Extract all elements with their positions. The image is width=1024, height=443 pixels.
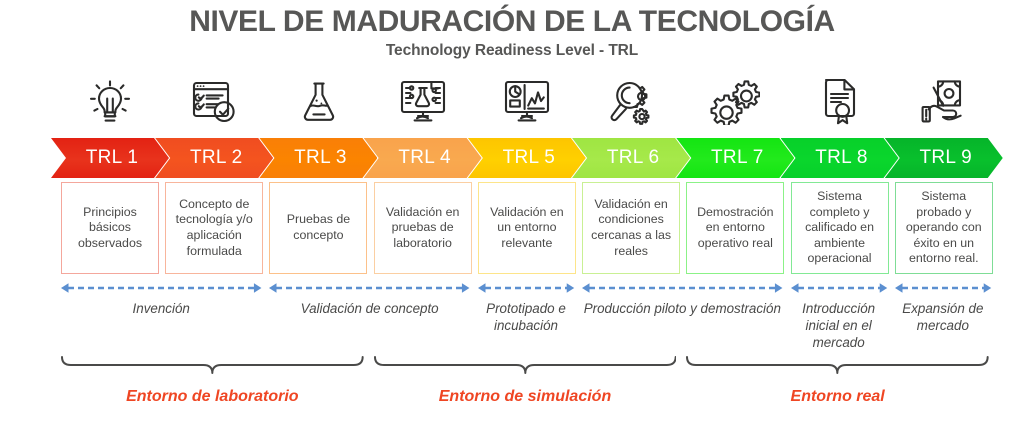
trl-chevron-label: TRL 3 bbox=[290, 147, 347, 169]
environment-row: Entorno de laboratorioEntorno de simulac… bbox=[58, 356, 996, 436]
environment-brace-3 bbox=[686, 356, 989, 382]
trl-description-text: Demostración en entorno operativo real bbox=[690, 205, 780, 252]
environment-label-3: Entorno real bbox=[686, 388, 989, 406]
trl-description-box-6: Validación en condiciones cercanas a las… bbox=[582, 182, 680, 274]
trl-chevron-6[interactable]: TRL 6 bbox=[572, 138, 690, 178]
trl-chevron-label: TRL 4 bbox=[394, 147, 451, 169]
phase-row: InvenciónValidación de conceptoPrototipa… bbox=[58, 281, 996, 355]
checklist-approved-icon bbox=[162, 72, 266, 130]
environment-label-1: Entorno de laboratorio bbox=[61, 388, 364, 406]
environment-brace-2 bbox=[374, 356, 677, 382]
trl-description-text: Sistema completo y calificado en ambient… bbox=[795, 189, 885, 267]
flask-icon bbox=[266, 72, 370, 130]
trl-description-text: Principios básicos observados bbox=[65, 205, 155, 252]
trl-chevron-label: TRL 1 bbox=[82, 147, 139, 169]
phase-arrow-2 bbox=[268, 281, 470, 293]
phase-label-6: Expansión de mercado bbox=[894, 301, 992, 335]
trl-description-text: Sistema probado y operando con éxito en … bbox=[899, 189, 989, 267]
phase-arrow-5 bbox=[790, 281, 888, 293]
trl-description-text: Validación en pruebas de laboratorio bbox=[378, 205, 468, 252]
trl-chevron-label: TRL 7 bbox=[707, 147, 764, 169]
trl-description-box-1: Principios básicos observados bbox=[61, 182, 159, 274]
trl-description-text: Validación en condiciones cercanas a las… bbox=[586, 197, 676, 260]
phase-label-2: Validación de concepto bbox=[268, 301, 470, 318]
trl-description-text: Validación en un entorno relevante bbox=[482, 205, 572, 252]
trl-description-box-8: Sistema completo y calificado en ambient… bbox=[791, 182, 889, 274]
trl-chevron-band: TRL 1TRL 2TRL 3TRL 4TRL 5TRL 6TRL 7TRL 8… bbox=[58, 138, 996, 178]
environment-label-2: Entorno de simulación bbox=[374, 388, 677, 406]
trl-description-box-3: Pruebas de concepto bbox=[269, 182, 367, 274]
trl-chevron-1[interactable]: TRL 1 bbox=[51, 138, 169, 178]
phase-arrow-3 bbox=[477, 281, 575, 293]
environment-brace-1 bbox=[61, 356, 364, 382]
trl-description-box-5: Validación en un entorno relevante bbox=[478, 182, 576, 274]
trl-chevron-label: TRL 5 bbox=[499, 147, 556, 169]
phase-arrow-6 bbox=[894, 281, 992, 293]
trl-description-text: Concepto de tecnología y/o aplicación fo… bbox=[169, 197, 259, 260]
lightbulb-icon bbox=[58, 72, 162, 130]
trl-chevron-label: TRL 6 bbox=[603, 147, 660, 169]
trl-description-box-9: Sistema probado y operando con éxito en … bbox=[895, 182, 993, 274]
trl-chevron-2[interactable]: TRL 2 bbox=[155, 138, 273, 178]
trl-description-box-2: Concepto de tecnología y/o aplicación fo… bbox=[165, 182, 263, 274]
trl-chevron-7[interactable]: TRL 7 bbox=[676, 138, 794, 178]
trl-chevron-4[interactable]: TRL 4 bbox=[364, 138, 482, 178]
phase-label-1: Invención bbox=[60, 301, 262, 318]
trl-chevron-label: TRL 8 bbox=[811, 147, 868, 169]
trl-description-box-4: Validación en pruebas de laboratorio bbox=[374, 182, 472, 274]
magnifier-gears-icon bbox=[579, 72, 683, 130]
monitor-analytics-icon bbox=[475, 72, 579, 130]
trl-chevron-9[interactable]: TRL 9 bbox=[885, 138, 1003, 178]
trl-chevron-label: TRL 9 bbox=[915, 147, 972, 169]
trl-chevron-label: TRL 2 bbox=[186, 147, 243, 169]
phase-arrow-4 bbox=[581, 281, 783, 293]
trl-description-box-7: Demostración en entorno operativo real bbox=[686, 182, 784, 274]
trl-diagram: TRL 1TRL 2TRL 3TRL 4TRL 5TRL 6TRL 7TRL 8… bbox=[58, 0, 996, 443]
trl-chevron-3[interactable]: TRL 3 bbox=[259, 138, 377, 178]
phase-label-4: Producción piloto y demostración bbox=[581, 301, 783, 318]
certificate-icon bbox=[788, 72, 892, 130]
trl-chevron-5[interactable]: TRL 5 bbox=[468, 138, 586, 178]
trl-description-text: Pruebas de concepto bbox=[273, 212, 363, 243]
phase-label-3: Prototipado e incubación bbox=[477, 301, 575, 335]
gears-icon bbox=[683, 72, 787, 130]
phase-label-5: Introducción inicial en el mercado bbox=[790, 301, 888, 351]
hand-money-icon bbox=[892, 72, 996, 130]
monitor-flask-icon bbox=[371, 72, 475, 130]
trl-chevron-8[interactable]: TRL 8 bbox=[781, 138, 899, 178]
phase-arrow-1 bbox=[60, 281, 262, 293]
